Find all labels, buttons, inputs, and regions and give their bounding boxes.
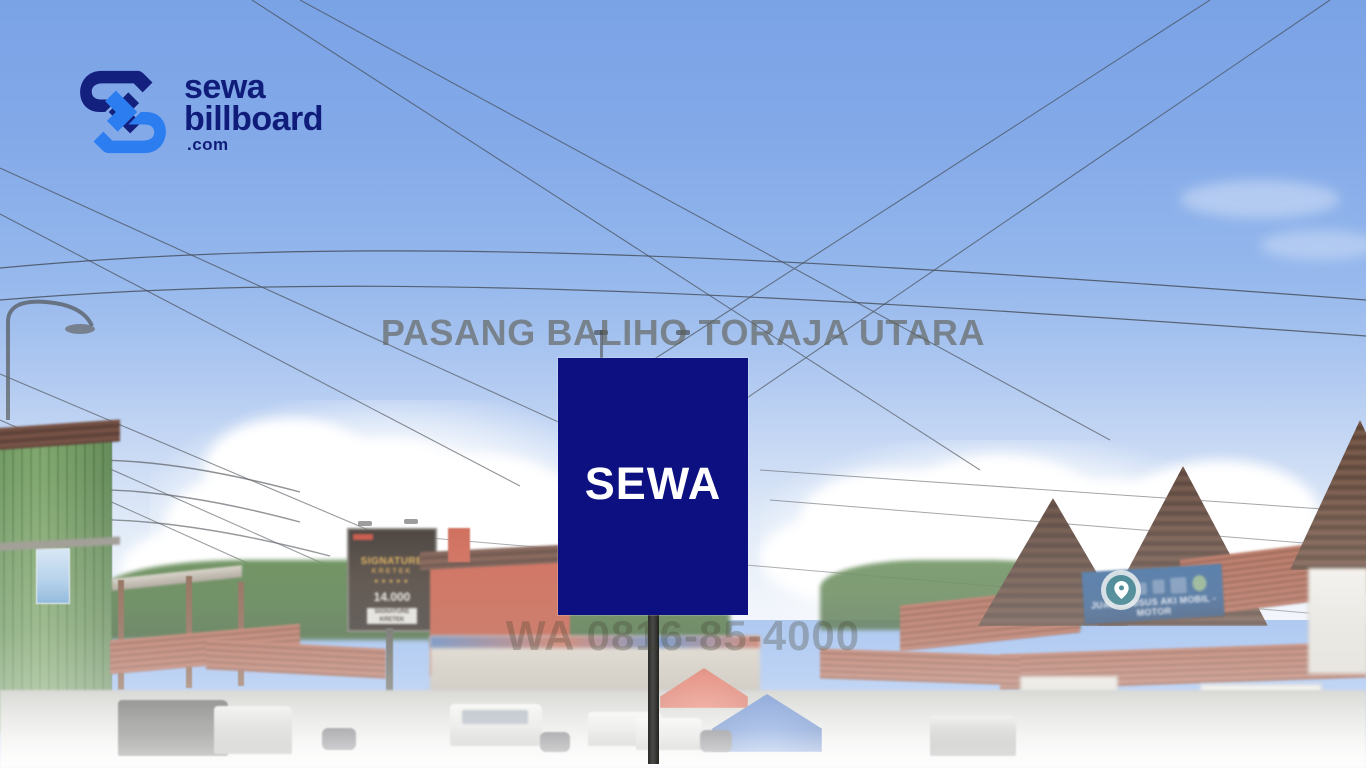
vehicle-white-car [636,718,702,750]
signature-lamp-icon [358,521,372,526]
vehicle-left-van [214,706,292,754]
motorbike-silhouette [540,732,570,752]
logo-line-com: .com [187,137,323,153]
location-pin-badge [1101,570,1141,610]
cloud-wisp [1180,180,1340,218]
aki-chip [1170,577,1187,594]
signature-tag [353,534,373,540]
signature-stars: ★★★★★ [349,578,435,585]
logo-line-sewa: sewa [184,71,323,104]
billboard-mockup-image: SIGNATURE KRETEK ★★★★★ 14.000 SIGNATURE … [0,0,1366,768]
aki-chip [1152,579,1165,594]
interlocking-s-logo-icon [78,62,168,162]
green-building-poster [36,548,70,604]
green-building [0,432,112,732]
pin-glyph-icon [1114,581,1129,599]
location-pin-icon [1106,575,1136,605]
headline-text: PASANG BALIHO TORAJA UTARA [0,312,1366,354]
watermark-phone: WA 0816-85-4000 [0,612,1366,660]
billboard-panel: SEWA [558,358,748,615]
signature-lamp-icon [404,519,418,524]
logo-line-billboard: billboard [184,103,323,136]
motorbike-silhouette [322,728,356,750]
red-building-tower [448,528,470,562]
vehicle-left-truck [118,700,228,756]
logo-wordmark: sewa billboard .com [184,71,323,154]
motorbike-silhouette [700,730,732,752]
vehicle-window [462,710,528,724]
aki-chip [1192,575,1207,592]
signature-price: 14.000 [349,590,435,604]
site-logo[interactable]: sewa billboard .com [78,62,323,162]
billboard-panel-text: SEWA [558,458,748,510]
vehicle-dark-car [930,716,1016,756]
